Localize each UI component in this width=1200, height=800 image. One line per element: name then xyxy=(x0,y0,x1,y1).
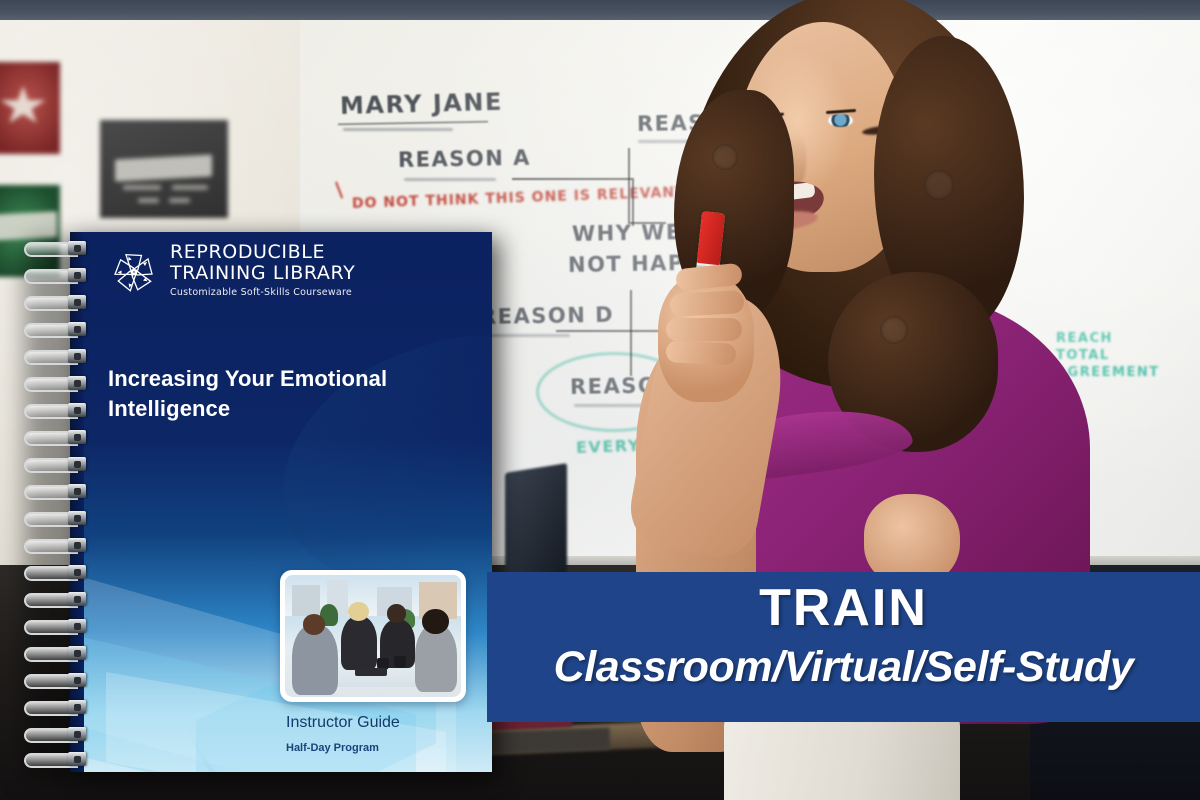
instructor-guide-label: Instructor Guide xyxy=(286,714,400,732)
banner-headline: TRAIN xyxy=(487,580,1200,636)
logo-tagline: Customizable Soft-Skills Courseware xyxy=(170,287,355,298)
finger xyxy=(669,290,744,317)
cover-thumbnail xyxy=(280,570,466,702)
person-head xyxy=(303,614,326,635)
person xyxy=(415,624,457,692)
eye-right xyxy=(828,114,853,127)
person-head xyxy=(387,604,406,622)
program-length-label: Half-Day Program xyxy=(286,742,379,754)
logo-line-1: REPRODUCIBLE xyxy=(170,242,355,263)
spiral-binding xyxy=(14,232,92,772)
hair-curl xyxy=(712,144,738,170)
promo-image: MARY JANE REASON A REASON B DO NOT THINK… xyxy=(0,0,1200,800)
finger xyxy=(665,340,736,366)
meeting-photo xyxy=(285,575,461,697)
coffee-cup xyxy=(394,656,406,668)
logo-line-2: TRAINING LIBRARY xyxy=(170,263,355,284)
hand-holding-marker xyxy=(652,230,764,406)
pinwheel-icon xyxy=(108,246,160,298)
rtl-logo: REPRODUCIBLE TRAINING LIBRARY Customizab… xyxy=(108,242,358,304)
red-poster xyxy=(0,62,60,154)
notebook xyxy=(355,668,387,677)
person-head xyxy=(422,609,448,633)
person xyxy=(341,616,376,670)
marker-cap xyxy=(697,211,725,265)
chalkboard-poster xyxy=(100,120,228,218)
trousers xyxy=(724,710,960,800)
building xyxy=(292,585,320,617)
finger xyxy=(666,318,742,341)
cover-title: Increasing Your Emotional Intelligence xyxy=(108,364,438,424)
banner-subhead: Classroom/Virtual/Self-Study xyxy=(487,640,1200,694)
logo-wordmark: REPRODUCIBLE TRAINING LIBRARY Customizab… xyxy=(170,242,355,298)
hair-curl xyxy=(924,170,954,200)
course-guide-book: REPRODUCIBLE TRAINING LIBRARY Customizab… xyxy=(14,232,492,772)
hair-curl xyxy=(880,316,908,344)
train-banner: TRAIN Classroom/Virtual/Self-Study xyxy=(487,572,1200,722)
book-cover: REPRODUCIBLE TRAINING LIBRARY Customizab… xyxy=(76,232,492,772)
monitor xyxy=(505,463,567,583)
